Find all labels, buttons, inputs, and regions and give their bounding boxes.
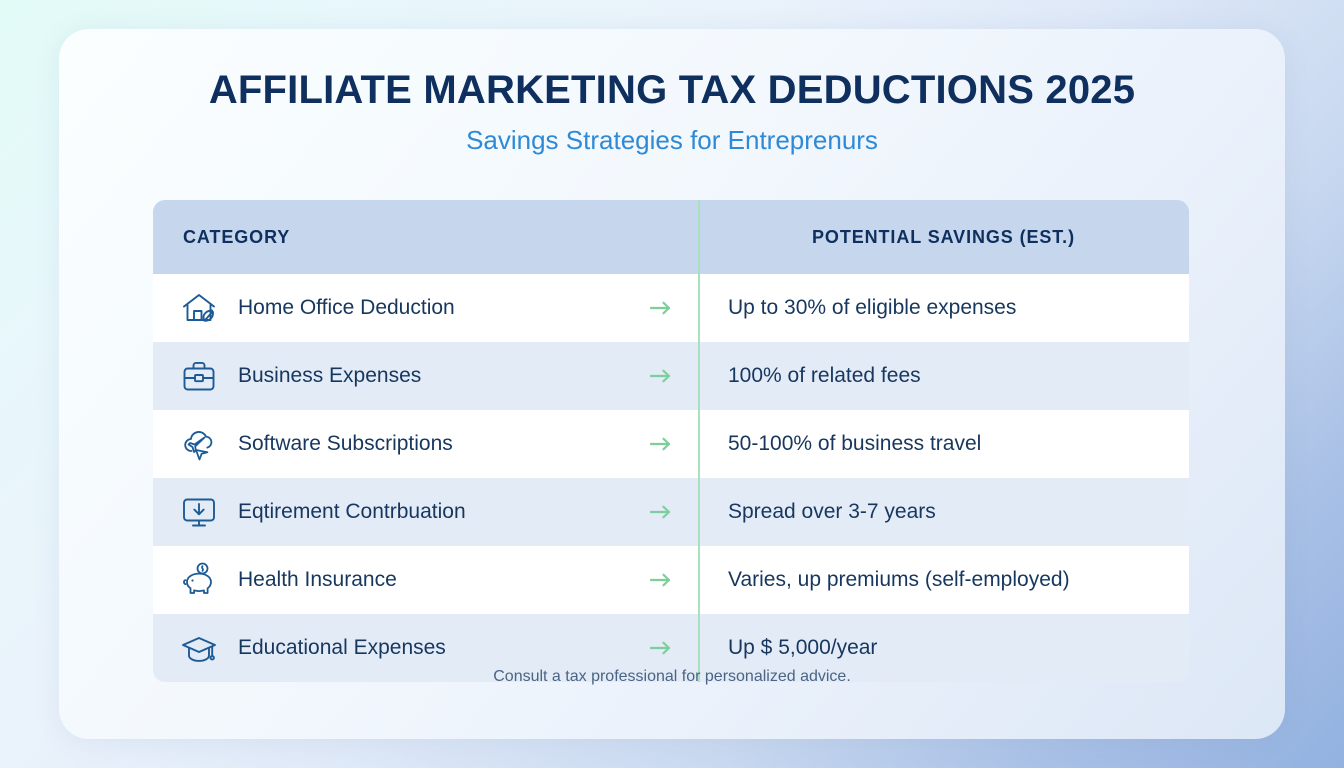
arrow-right-icon bbox=[648, 571, 674, 589]
infographic-card: AFFILIATE MARKETING TAX DEDUCTIONS 2025 … bbox=[59, 29, 1285, 739]
category-label: Business Expenses bbox=[238, 364, 421, 388]
category-label: Home Office Deduction bbox=[238, 296, 455, 320]
cloud-plane-cursor-icon bbox=[179, 424, 219, 464]
column-header-category: CATEGORY bbox=[153, 227, 698, 248]
footer-note: Consult a tax professional for personali… bbox=[59, 668, 1285, 686]
cell-category: Educational Expenses bbox=[153, 628, 698, 668]
deductions-table: CATEGORY POTENTIAL SAVINGS (EST.) Home O… bbox=[153, 200, 1189, 682]
arrow-right-icon bbox=[648, 503, 674, 521]
piggy-bank-coin-icon bbox=[179, 560, 219, 600]
cell-category: Eqtirement Contrbuation bbox=[153, 492, 698, 532]
arrow-right-icon bbox=[648, 639, 674, 657]
cell-savings: Varies, up premiums (self-employed) bbox=[698, 568, 1189, 592]
category-label: Educational Expenses bbox=[238, 636, 446, 660]
cell-savings: 100% of related fees bbox=[698, 364, 1189, 388]
cell-savings: 50-100% of business travel bbox=[698, 432, 1189, 456]
arrow-right-icon bbox=[648, 435, 674, 453]
cell-category: Software Subscriptions bbox=[153, 424, 698, 464]
cell-savings: Up $ 5,000/year bbox=[698, 636, 1189, 660]
page-subtitle: Savings Strategies for Entreprenurs bbox=[59, 125, 1285, 156]
graduation-cap-icon bbox=[179, 628, 219, 668]
table-row: Health Insurance Varies, up premiums (se… bbox=[153, 546, 1189, 614]
category-label: Health Insurance bbox=[238, 568, 397, 592]
column-header-savings: POTENTIAL SAVINGS (EST.) bbox=[698, 227, 1189, 248]
cell-savings: Up to 30% of eligible expenses bbox=[698, 296, 1189, 320]
table-row: Eqtirement Contrbuation Spread over 3-7 … bbox=[153, 478, 1189, 546]
table-header-row: CATEGORY POTENTIAL SAVINGS (EST.) bbox=[153, 200, 1189, 274]
category-label: Software Subscriptions bbox=[238, 432, 453, 456]
table-row: Software Subscriptions 50-100% of busine… bbox=[153, 410, 1189, 478]
table-row: Business Expenses 100% of related fees bbox=[153, 342, 1189, 410]
cell-savings: Spread over 3-7 years bbox=[698, 500, 1189, 524]
table-row: Home Office Deduction Up to 30% of eligi… bbox=[153, 274, 1189, 342]
home-leaf-icon bbox=[179, 288, 219, 328]
cell-category: Business Expenses bbox=[153, 356, 698, 396]
column-divider bbox=[698, 200, 700, 682]
cell-category: Health Insurance bbox=[153, 560, 698, 600]
arrow-right-icon bbox=[648, 367, 674, 385]
briefcase-icon bbox=[179, 356, 219, 396]
category-label: Eqtirement Contrbuation bbox=[238, 500, 466, 524]
page-title: AFFILIATE MARKETING TAX DEDUCTIONS 2025 bbox=[59, 68, 1285, 113]
cell-category: Home Office Deduction bbox=[153, 288, 698, 328]
arrow-right-icon bbox=[648, 299, 674, 317]
monitor-download-icon bbox=[179, 492, 219, 532]
